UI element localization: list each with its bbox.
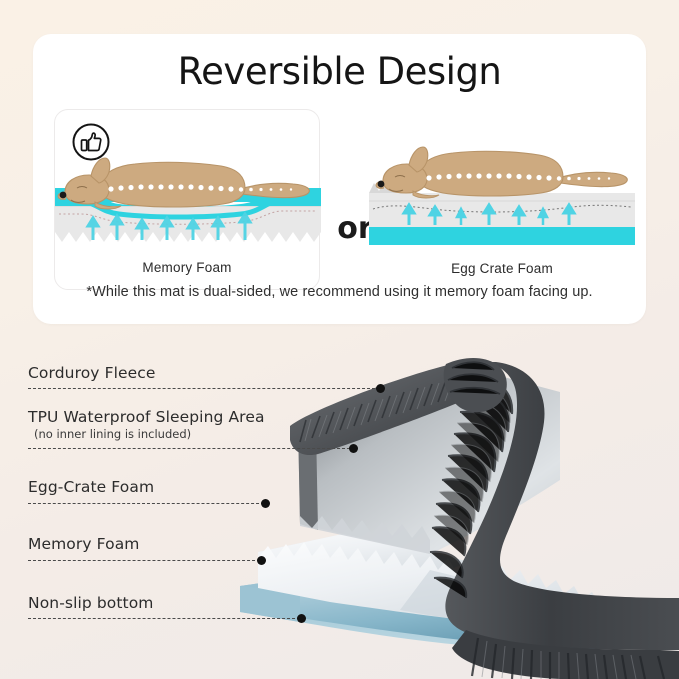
layer-label-corduroy-fleece: Corduroy Fleece bbox=[28, 364, 156, 382]
panel-caption-egg-crate-foam: Egg Crate Foam bbox=[369, 261, 635, 276]
layer-label-non-slip-bottom: Non-slip bottom bbox=[28, 594, 154, 612]
leader-line-memory-foam bbox=[28, 560, 260, 562]
leader-dot-egg-crate-foam bbox=[261, 499, 270, 508]
footnote-text: *While this mat is dual-sided, we recomm… bbox=[33, 284, 646, 300]
leader-dot-tpu-sleeping-area bbox=[349, 444, 358, 453]
page-title: Reversible Design bbox=[33, 50, 646, 93]
panel-memory-foam: Memory Foam bbox=[54, 109, 320, 290]
leader-line-non-slip-bottom bbox=[28, 618, 300, 620]
panel-egg-crate-foam: Egg Crate Foam bbox=[369, 109, 635, 290]
egg-crate-foam-diagram bbox=[369, 131, 635, 263]
layer-sublabel-tpu: (no inner lining is included) bbox=[34, 427, 265, 441]
leader-dot-non-slip-bottom bbox=[297, 614, 306, 623]
dog-illustration bbox=[376, 147, 627, 198]
memory-foam-diagram bbox=[55, 132, 321, 264]
reversible-design-card: Reversible Design bbox=[33, 34, 646, 324]
leader-line-corduroy-fleece bbox=[28, 388, 380, 390]
leader-dot-memory-foam bbox=[257, 556, 266, 565]
layer-label-memory-foam: Memory Foam bbox=[28, 535, 140, 553]
layer-label-egg-crate-foam: Egg-Crate Foam bbox=[28, 478, 154, 496]
layer-label-tpu-sleeping-area: TPU Waterproof Sleeping Area (no inner l… bbox=[28, 408, 265, 441]
leader-line-egg-crate-foam bbox=[28, 503, 264, 505]
product-infographic: Reversible Design bbox=[0, 0, 679, 679]
panel-caption-memory-foam: Memory Foam bbox=[55, 260, 319, 275]
leader-dot-corduroy-fleece bbox=[376, 384, 385, 393]
leader-line-tpu-sleeping-area bbox=[28, 448, 350, 450]
layer-breakdown-section: Corduroy Fleece TPU Waterproof Sleeping … bbox=[0, 330, 679, 679]
